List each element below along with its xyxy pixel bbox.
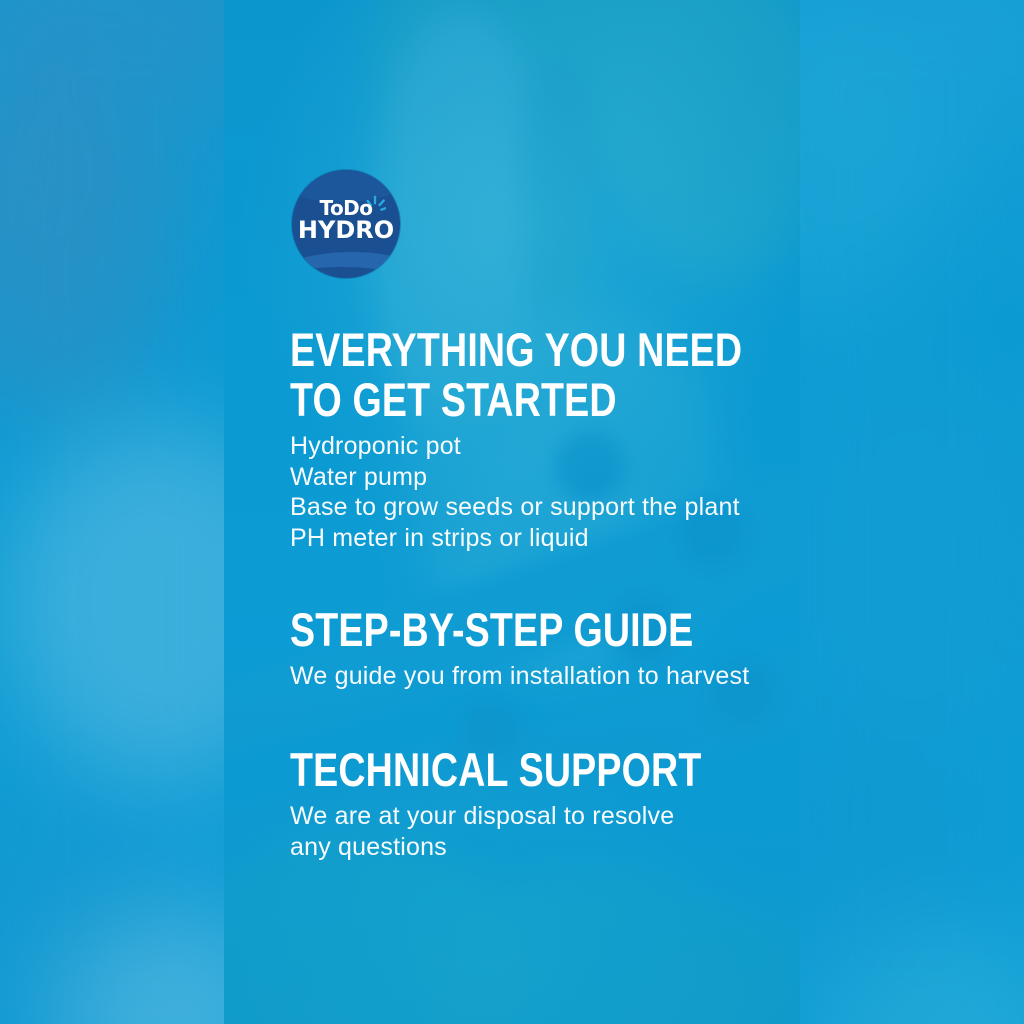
section-heading-line-1: EVERYTHING YOU NEED [290, 325, 690, 375]
section-heading-line-1: STEP-BY-STEP GUIDE [290, 605, 690, 655]
list-item: Hydroponic pot [290, 431, 790, 462]
list-item: any questions [290, 832, 790, 863]
logo-line-2: HYDRO [292, 219, 400, 243]
section-step-by-step-guide: STEP-BY-STEP GUIDE We guide you from ins… [290, 605, 790, 692]
section-item-list: We are at your disposal to resolve any q… [290, 801, 790, 862]
list-item: Base to grow seeds or support the plant [290, 492, 790, 523]
list-item: PH meter in strips or liquid [290, 523, 790, 554]
section-item-list: Hydroponic pot Water pump Base to grow s… [290, 431, 790, 553]
section-technical-support: TECHNICAL SUPPORT We are at your disposa… [290, 745, 790, 862]
logo-wordmark: ToDo HYDRO [292, 199, 400, 242]
section-heading-line-2: TO GET STARTED [290, 375, 690, 425]
brand-logo: ToDo HYDRO [292, 170, 400, 278]
section-item-list: We guide you from installation to harves… [290, 661, 790, 692]
section-everything-you-need: EVERYTHING YOU NEED TO GET STARTED Hydro… [290, 325, 790, 553]
list-item: Water pump [290, 462, 790, 493]
promo-graphic: ToDo HYDRO EVERYTHING YOU NEED TO GET ST… [0, 0, 1024, 1024]
list-item: We are at your disposal to resolve [290, 801, 790, 832]
section-heading-line-1: TECHNICAL SUPPORT [290, 745, 690, 795]
list-item: We guide you from installation to harves… [290, 661, 790, 692]
content-layer: ToDo HYDRO EVERYTHING YOU NEED TO GET ST… [224, 0, 800, 1024]
